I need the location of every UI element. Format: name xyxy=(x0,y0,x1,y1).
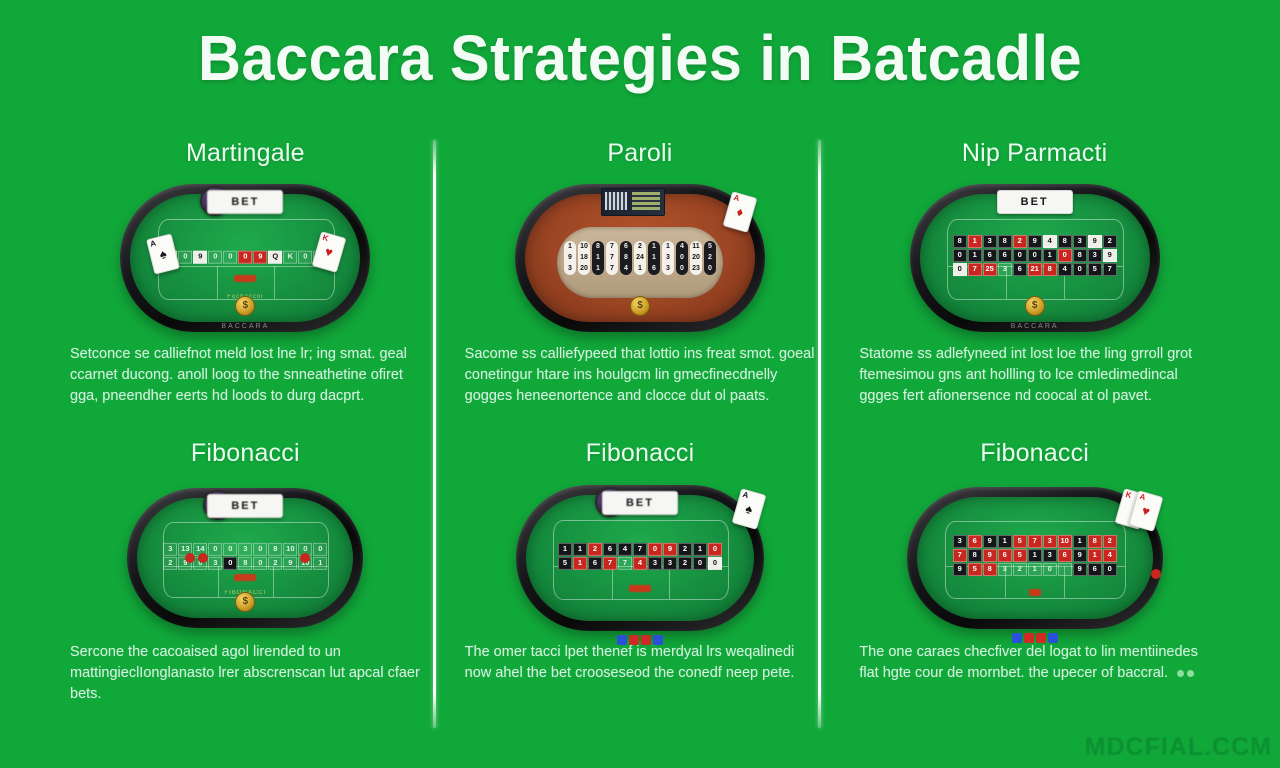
grid-cell: 9 xyxy=(663,542,677,555)
grid-cell: 3 xyxy=(998,263,1012,276)
baccarat-table-illustration: 3 6 9 1 5 7 3 10 1 8 2 7 8 xyxy=(859,478,1210,638)
grid-cell: 0 xyxy=(953,263,967,276)
number-pill: 811 xyxy=(592,241,604,275)
number-pill: 777 xyxy=(606,241,618,275)
roulette-table-illustration: 193 101820 811 777 684 2241 116 133 400 … xyxy=(465,178,816,338)
grid-cell: 9 xyxy=(1073,563,1087,576)
grid-cell: 7 xyxy=(968,263,982,276)
grid-cell: 7 xyxy=(953,549,967,562)
chip-stack xyxy=(1012,633,1058,643)
grid-cell: 1 xyxy=(573,542,587,555)
grid-cell: 1 xyxy=(1043,249,1057,262)
grid-cell: 0 xyxy=(1013,249,1027,262)
grid-cell: 3 xyxy=(1043,535,1057,548)
grid-cell: 9 xyxy=(983,535,997,548)
red-marker xyxy=(629,585,651,592)
panel-nip-parmacti: Nip Parmacti BET 8 1 3 8 2 9 xyxy=(837,132,1232,432)
bet-chip xyxy=(1151,569,1161,579)
number-pill: 193 xyxy=(564,241,576,275)
grid-cell: 6 xyxy=(1058,549,1072,562)
grid-cell: 3 xyxy=(1073,235,1087,248)
grid-cell: 9 xyxy=(1103,249,1117,262)
grid-cell: 2 xyxy=(1103,535,1117,548)
grid-cell: 1 xyxy=(693,542,707,555)
grid-cell: 6 xyxy=(998,249,1012,262)
bet-plaque: BET xyxy=(207,494,283,518)
grid-cell: 0 xyxy=(708,556,722,569)
grid-cell: 3 xyxy=(953,535,967,548)
panel-description: The one caraes checfiver del logat to li… xyxy=(859,642,1210,684)
grid-cell: 6 xyxy=(983,249,997,262)
grid-cell: 21 xyxy=(1028,263,1042,276)
grid-cell: 2 xyxy=(588,542,602,555)
bet-plaque: BET xyxy=(602,491,678,515)
grid-cell: 0 xyxy=(223,542,237,555)
grid-cell: 0 xyxy=(238,250,252,263)
grid-cell: 4 xyxy=(633,556,647,569)
number-grid: 1 1 2 6 4 7 0 9 2 1 0 5 1 xyxy=(558,542,722,569)
red-marker xyxy=(234,275,256,282)
grid-cell: 1 xyxy=(1088,549,1102,562)
number-grid: 8 1 3 8 2 9 4 8 3 9 2 0 1 xyxy=(953,235,1117,276)
grid-cell: 0 xyxy=(1058,249,1072,262)
red-marker xyxy=(234,574,256,581)
grid-cell: 0 xyxy=(1073,263,1087,276)
grid-cell: 3 xyxy=(983,235,997,248)
panel-description: Statome ss adlefyneed int lost loe the l… xyxy=(859,344,1210,407)
grid-cell: 2 xyxy=(163,556,177,569)
strategy-grid: Martingale BET A 0 9 0 0 0 xyxy=(48,132,1232,732)
bet-chip xyxy=(198,553,208,563)
grid-cell: 2 xyxy=(268,556,282,569)
grid-cell: 0 xyxy=(1103,563,1117,576)
number-pill: 684 xyxy=(620,241,632,275)
grid-cell: 9 xyxy=(283,556,297,569)
grid-cell: 2 xyxy=(678,542,692,555)
grid-cell: 7 xyxy=(618,556,632,569)
grid-cell: 9 xyxy=(1073,549,1087,562)
grid-cell: 0 xyxy=(223,556,237,569)
grid-cell: 5 xyxy=(558,556,572,569)
panel-fibonacci-left: Fibonacci BET 3 13 14 0 0 3 xyxy=(48,432,443,732)
bet-chip xyxy=(300,553,310,563)
grid-cell: 1 xyxy=(968,249,982,262)
grid-cell: 1 xyxy=(998,535,1012,548)
grid-cell: 2 xyxy=(1103,235,1117,248)
grid-cell: 3 xyxy=(648,556,662,569)
grid-cell: 9 xyxy=(1028,235,1042,248)
grid-cell: 3 xyxy=(238,542,252,555)
baccarat-table-illustration: BET A 0 9 0 0 0 9 Q K 0 xyxy=(70,178,421,338)
grid-cell: 7 xyxy=(1103,263,1117,276)
grid-cell: 3 xyxy=(208,556,222,569)
grid-cell: 0 xyxy=(693,556,707,569)
panel-description: Sacome ss calliefypeed that lottio ins f… xyxy=(465,344,816,407)
bet-plaque: BET xyxy=(207,190,283,214)
grid-cell: 0 xyxy=(1043,563,1057,576)
grid-cell: 1 xyxy=(968,235,982,248)
grid-cell: 0 xyxy=(313,542,327,555)
grid-cell: 3 xyxy=(998,563,1012,576)
grid-cell: 0 xyxy=(253,556,267,569)
grid-cell: 7 xyxy=(633,542,647,555)
grid-cell: 1 xyxy=(1028,549,1042,562)
number-grid: A 0 9 0 0 0 9 Q K 0 A xyxy=(163,250,327,263)
baccarat-table-illustration: BET 3 13 14 0 0 3 0 8 10 xyxy=(70,478,421,638)
number-pill: 2241 xyxy=(634,241,646,275)
panel-title: Nip Parmacti xyxy=(859,132,1210,168)
baccarat-table-illustration: BET 1 1 2 6 4 7 0 9 2 1 xyxy=(465,478,816,638)
grid-cell xyxy=(1058,563,1072,576)
number-grid: 3 6 9 1 5 7 3 10 1 8 2 7 8 xyxy=(953,535,1117,576)
grid-cell: 7 xyxy=(603,556,617,569)
grid-cell: 0 xyxy=(648,542,662,555)
grid-cell: 2 xyxy=(678,556,692,569)
grid-cell: 8 xyxy=(1043,263,1057,276)
grid-cell: 2 xyxy=(1013,235,1027,248)
rail-brand-text: BACCARA xyxy=(221,323,269,330)
poster-canvas: Baccara Strategies in Batcadle Martingal… xyxy=(0,0,1280,768)
panel-description: Sercone the cacoaised agol lirended to u… xyxy=(70,642,421,705)
grid-cell: 5 xyxy=(1013,549,1027,562)
grid-cell: 10 xyxy=(283,542,297,555)
grid-cell: 0 xyxy=(1028,249,1042,262)
grid-cell: 1 xyxy=(558,542,572,555)
grid-cell: 8 xyxy=(268,542,282,555)
number-pill: 112023 xyxy=(690,241,702,275)
dealer-display-panel xyxy=(601,188,665,216)
grid-cell: 2 xyxy=(1013,563,1027,576)
number-pill: 400 xyxy=(676,241,688,275)
rail-brand-text: BACCARA xyxy=(1011,323,1059,330)
grid-cell: 3 xyxy=(663,556,677,569)
grid-cell: 6 xyxy=(588,556,602,569)
baccarat-table-illustration: BET 8 1 3 8 2 9 4 8 3 9 xyxy=(859,178,1210,338)
bet-plaque: BET xyxy=(997,190,1073,214)
grid-cell: 4 xyxy=(1103,549,1117,562)
panel-paroli: Paroli 193 101820 811 777 684 2241 116 xyxy=(443,132,838,432)
grid-cell: 6 xyxy=(968,535,982,548)
grid-cell: 6 xyxy=(1013,263,1027,276)
panel-title: Fibonacci xyxy=(859,432,1210,468)
grid-cell: 0 xyxy=(223,250,237,263)
grid-cell: 4 xyxy=(1043,235,1057,248)
grid-cell: 8 xyxy=(1073,249,1087,262)
chip-stack xyxy=(617,635,663,645)
gold-coin-icon: $ xyxy=(235,296,255,316)
grid-cell: 6 xyxy=(998,549,1012,562)
panel-title: Fibonacci xyxy=(70,432,421,468)
panel-title: Martingale xyxy=(70,132,421,168)
grid-cell: 6 xyxy=(603,542,617,555)
grid-cell: 5 xyxy=(968,563,982,576)
grid-cell: 8 xyxy=(998,235,1012,248)
grid-cell: 0 xyxy=(708,542,722,555)
watermark: MDCFIAL.CCM xyxy=(1085,733,1272,762)
number-pill: 520 xyxy=(704,241,716,275)
grid-cell: 0 xyxy=(208,542,222,555)
grid-cell: 1 xyxy=(1073,535,1087,548)
grid-cell: 8 xyxy=(983,563,997,576)
grid-cell: 4 xyxy=(1058,263,1072,276)
panel-title: Paroli xyxy=(465,132,816,168)
grid-cell: 1 xyxy=(313,556,327,569)
grid-cell: K xyxy=(283,250,297,263)
grid-cell: 8 xyxy=(1058,235,1072,248)
grid-cell: 5 xyxy=(1013,535,1027,548)
grid-cell: 8 xyxy=(1088,535,1102,548)
grid-cell: 0 xyxy=(178,250,192,263)
grid-cell: 10 xyxy=(1058,535,1072,548)
decorative-dots xyxy=(1174,663,1194,684)
gold-coin-icon: $ xyxy=(630,296,650,316)
grid-cell: 9 xyxy=(193,250,207,263)
panel-fibonacci-middle: Fibonacci BET 1 1 2 6 4 7 xyxy=(443,432,838,732)
grid-cell: 1 xyxy=(1028,563,1042,576)
gold-coin-icon: $ xyxy=(1025,296,1045,316)
number-pill: 101820 xyxy=(578,241,590,275)
grid-cell: 0 xyxy=(298,250,312,263)
grid-cell: 0 xyxy=(953,249,967,262)
grid-cell: 6 xyxy=(1088,563,1102,576)
grid-cell: 1 xyxy=(573,556,587,569)
page-title: Baccara Strategies in Batcadle xyxy=(45,26,1235,90)
panel-martingale: Martingale BET A 0 9 0 0 0 xyxy=(48,132,443,432)
grid-cell: 9 xyxy=(953,563,967,576)
grid-cell: 0 xyxy=(208,250,222,263)
panel-fibonacci-right: Fibonacci 3 6 9 1 5 7 3 xyxy=(837,432,1232,732)
grid-cell: 9 xyxy=(1088,235,1102,248)
grid-cell: 5 xyxy=(1088,263,1102,276)
number-pill: 133 xyxy=(662,241,674,275)
grid-cell: 9 xyxy=(983,549,997,562)
grid-cell: 9 xyxy=(253,250,267,263)
grid-cell: 8 xyxy=(238,556,252,569)
bet-chip xyxy=(185,553,195,563)
grid-cell: 0 xyxy=(253,542,267,555)
panel-title: Fibonacci xyxy=(465,432,816,468)
number-pill-grid: 193 101820 811 777 684 2241 116 133 400 … xyxy=(564,241,716,275)
panel-description: The omer tacci lpet thenef is merdyal lr… xyxy=(465,642,816,684)
grid-cell: 3 xyxy=(163,542,177,555)
number-pill: 116 xyxy=(648,241,660,275)
grid-cell: 3 xyxy=(1088,249,1102,262)
grid-cell: 8 xyxy=(953,235,967,248)
grid-cell: 25 xyxy=(983,263,997,276)
grid-cell: 4 xyxy=(618,542,632,555)
grid-cell: 8 xyxy=(968,549,982,562)
red-marker xyxy=(1029,589,1041,596)
panel-description: Setconce se calliefnot meld lost lne lr;… xyxy=(70,344,421,407)
grid-cell: Q xyxy=(268,250,282,263)
gold-coin-icon: $ xyxy=(235,592,255,612)
playing-card-spade: A♠ xyxy=(732,488,767,530)
grid-cell: 7 xyxy=(1028,535,1042,548)
grid-cell: 3 xyxy=(1043,549,1057,562)
